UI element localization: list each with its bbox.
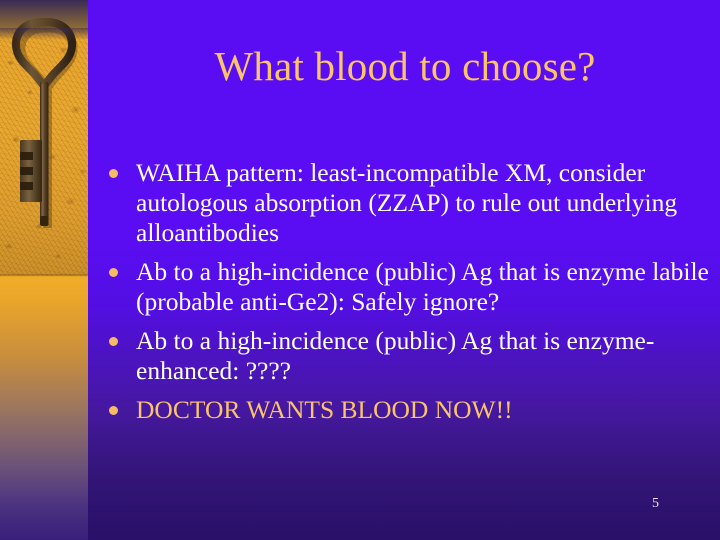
list-item: DOCTOR WANTS BLOOD NOW!! (100, 395, 712, 425)
list-item-text: DOCTOR WANTS BLOOD NOW!! (136, 395, 712, 425)
list-item-text: Ab to a high-incidence (public) Ag that … (136, 326, 712, 386)
round-bullet-icon (109, 337, 118, 346)
list-item: WAIHA pattern: least-incompatible XM, co… (100, 158, 712, 248)
round-bullet-icon (109, 169, 118, 178)
sidebar-decoration (0, 0, 88, 540)
list-item: Ab to a high-incidence (public) Ag that … (100, 326, 712, 386)
list-item-text: Ab to a high-incidence (public) Ag that … (136, 257, 712, 317)
list-item: Ab to a high-incidence (public) Ag that … (100, 257, 712, 317)
photo-bottom-edge (0, 274, 88, 277)
round-bullet-icon (109, 406, 118, 415)
page-number: 5 (652, 497, 659, 511)
presentation-slide: What blood to choose? WAIHA pattern: lea… (0, 0, 720, 540)
slide-title: What blood to choose? (100, 44, 710, 90)
photo-top-fade (0, 28, 88, 40)
bullet-list: WAIHA pattern: least-incompatible XM, co… (100, 158, 712, 434)
round-bullet-icon (109, 268, 118, 277)
list-item-text: WAIHA pattern: least-incompatible XM, co… (136, 158, 712, 248)
